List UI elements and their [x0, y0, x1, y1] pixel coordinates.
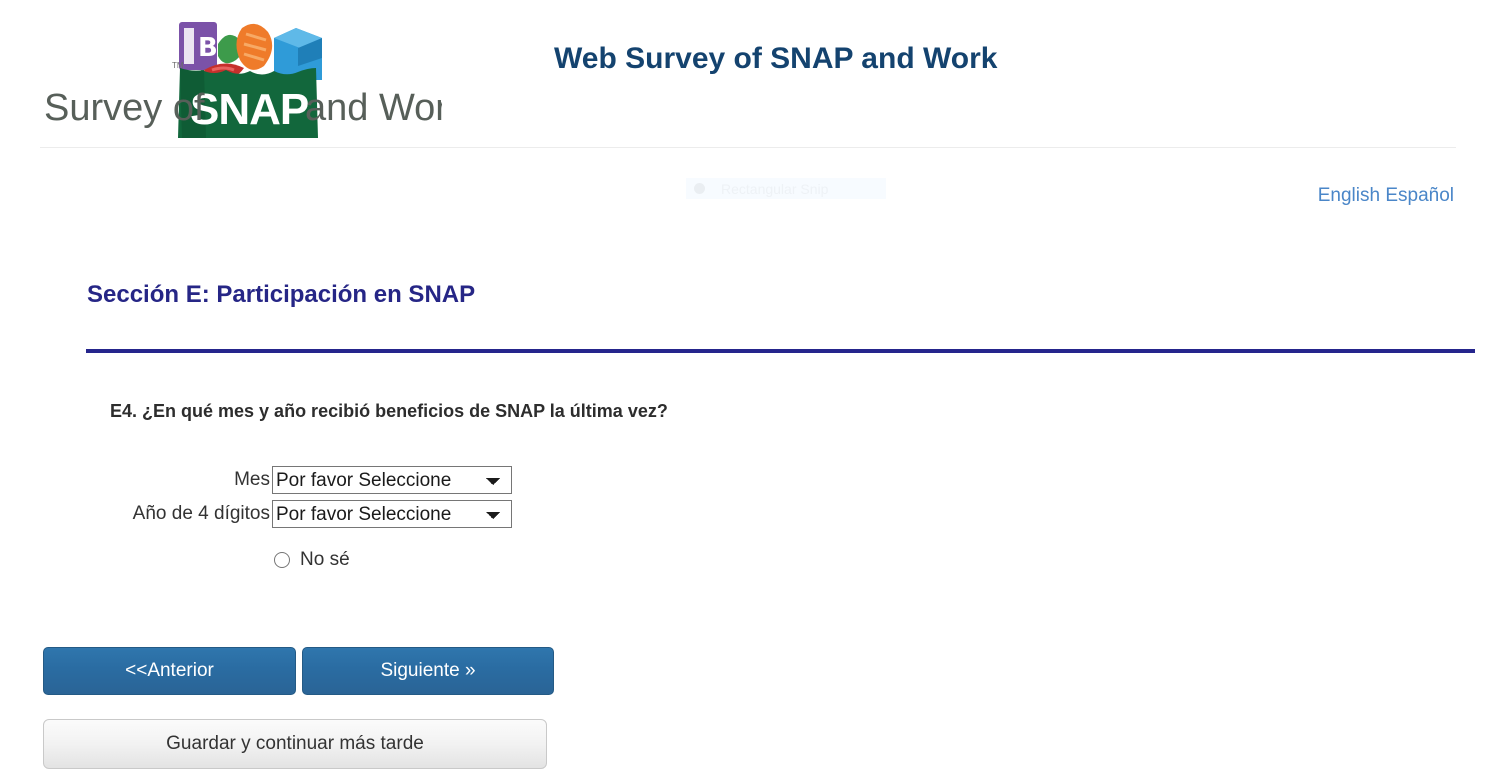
save-and-continue-later-button[interactable]: Guardar y continuar más tarde: [43, 719, 547, 769]
svg-text:Survey of: Survey of: [44, 87, 205, 129]
form-row-month: Mes Por favor Seleccione: [0, 463, 512, 497]
section-heading: Sección E: Participación en SNAP: [87, 281, 475, 309]
form-row-dont-know: No sé: [0, 549, 512, 571]
svg-text:and Work: and Work: [305, 87, 442, 129]
dont-know-radio[interactable]: [274, 552, 290, 568]
navigation-buttons: <<Anterior Siguiente »: [43, 647, 554, 695]
form-row-year: Año de 4 dígitos Por favor Seleccione: [0, 497, 512, 531]
snap-logo-graphic: B SNAP TM Survey of and Work: [22, 4, 442, 140]
previous-button[interactable]: <<Anterior: [43, 647, 296, 695]
snap-survey-logo: B SNAP TM Survey of and Work: [22, 4, 442, 140]
svg-text:SNAP: SNAP: [190, 85, 308, 134]
page-header: B SNAP TM Survey of and Work Web: [0, 0, 1506, 148]
next-button[interactable]: Siguiente »: [302, 647, 554, 695]
snip-overlay-label: Rectangular Snip: [721, 181, 828, 197]
rectangular-snip-overlay: Rectangular Snip: [686, 178, 886, 199]
language-link-spanish[interactable]: Español: [1385, 185, 1454, 206]
header-divider: [40, 147, 1456, 148]
question-label-e4: E4. ¿En qué mes y año recibió beneficios…: [110, 401, 668, 422]
answer-form: Mes Por favor Seleccione Año de 4 dígito…: [0, 463, 512, 571]
month-label: Mes: [0, 469, 272, 491]
svg-text:TM: TM: [172, 61, 184, 70]
section-divider: [86, 349, 1475, 353]
month-select[interactable]: Por favor Seleccione: [272, 466, 512, 494]
language-link-english[interactable]: English: [1318, 185, 1380, 206]
snip-bullet-icon: [694, 183, 705, 194]
page-title: Web Survey of SNAP and Work: [554, 42, 997, 76]
language-bar: English Español: [1318, 185, 1454, 207]
year-label: Año de 4 dígitos: [0, 503, 272, 525]
year-select[interactable]: Por favor Seleccione: [272, 500, 512, 528]
dont-know-label[interactable]: No sé: [300, 549, 350, 571]
svg-text:B: B: [198, 33, 218, 63]
